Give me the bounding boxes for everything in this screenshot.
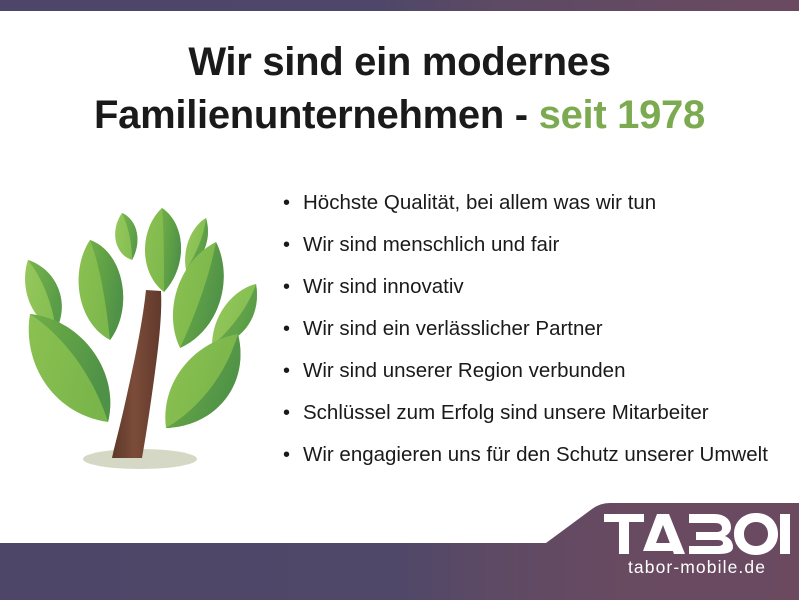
top-accent-bar bbox=[0, 0, 799, 11]
list-item: • Wir sind unserer Region verbunden bbox=[283, 361, 793, 403]
list-item: • Wir sind innovativ bbox=[283, 277, 793, 319]
list-item-label: Wir sind unserer Region verbunden bbox=[303, 361, 793, 382]
tree-leaf-upper-left bbox=[79, 240, 124, 340]
list-item: • Wir engagieren uns für den Schutz unse… bbox=[283, 445, 793, 487]
list-item: • Wir sind ein verlässlicher Partner bbox=[283, 319, 793, 361]
page-title-line-2: Familienunternehmen - seit 1978 bbox=[0, 89, 799, 142]
page-title: Wir sind ein modernes Familienunternehme… bbox=[0, 36, 799, 142]
bullet-dot-icon: • bbox=[283, 319, 303, 339]
bullet-dot-icon: • bbox=[283, 235, 303, 255]
page-title-line-1: Wir sind ein modernes bbox=[0, 36, 799, 89]
page-title-line-2-main: Familienunternehmen - bbox=[94, 93, 539, 137]
list-item: • Schlüssel zum Erfolg sind unsere Mitar… bbox=[283, 403, 793, 445]
list-item-label: Schlüssel zum Erfolg sind unsere Mitarbe… bbox=[303, 403, 793, 424]
logo-tagline: tabor-mobile.de bbox=[604, 559, 790, 577]
page-title-accent: seit 1978 bbox=[539, 93, 705, 137]
list-item-label: Wir engagieren uns für den Schutz unsere… bbox=[303, 445, 793, 466]
bullet-dot-icon: • bbox=[283, 277, 303, 297]
bullet-dot-icon: • bbox=[283, 193, 303, 213]
logo[interactable]: tabor-mobile.de bbox=[604, 512, 790, 584]
list-item-label: Wir sind menschlich und fair bbox=[303, 235, 793, 256]
bullet-dot-icon: • bbox=[283, 361, 303, 381]
tree-icon bbox=[14, 196, 270, 488]
list-item: • Wir sind menschlich und fair bbox=[283, 235, 793, 277]
bullet-dot-icon: • bbox=[283, 403, 303, 423]
slide-canvas: Wir sind ein modernes Familienunternehme… bbox=[0, 0, 799, 600]
value-list: • Höchste Qualität, bei allem was wir tu… bbox=[283, 193, 793, 487]
list-item: • Höchste Qualität, bei allem was wir tu… bbox=[283, 193, 793, 235]
tree-leaf-lower-right bbox=[165, 334, 240, 428]
tree-leaf-top-small-left bbox=[115, 213, 137, 260]
bullet-dot-icon: • bbox=[283, 445, 303, 465]
list-item-label: Höchste Qualität, bei allem was wir tun bbox=[303, 193, 793, 214]
tabor-wordmark-icon bbox=[604, 512, 790, 556]
list-item-label: Wir sind ein verlässlicher Partner bbox=[303, 319, 793, 340]
tree-leaf-top-center bbox=[145, 208, 181, 292]
list-item-label: Wir sind innovativ bbox=[303, 277, 793, 298]
